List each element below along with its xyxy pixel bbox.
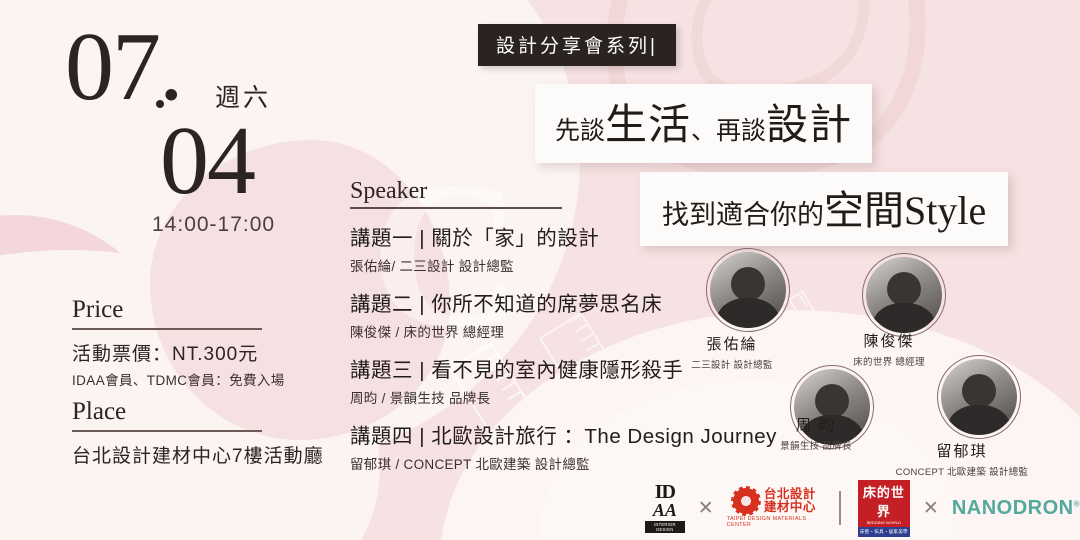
speaker-caption-3: 周 昀 景韻生技 品牌長	[741, 414, 891, 452]
date-day: 04	[160, 112, 254, 210]
headline-part-5: 設計	[766, 91, 852, 152]
headline-part-1: 先談	[555, 111, 605, 147]
avatar	[710, 252, 786, 328]
tdmc-logo-row: 台北設計 建材中心	[733, 488, 816, 514]
headline-comma: 、	[691, 111, 716, 147]
speaker-name: 周 昀	[741, 414, 891, 435]
price-heading: Price	[72, 296, 285, 324]
speaker-topic-4: 講題四 | 北歐設計旅行 ：The Design Journey 留郁琪 / C…	[350, 419, 760, 473]
x-separator-icon: ✕	[698, 497, 714, 520]
date-weekday: 週六	[215, 78, 271, 114]
place-heading: Place	[72, 398, 324, 426]
speaker-role: 二三設計 設計總監	[657, 357, 807, 371]
speaker-caption-1: 張佑綸 二三設計 設計總監	[657, 333, 807, 371]
nanodron-logo: NANODRON®	[952, 497, 1080, 520]
speaker-name: 留郁琪	[887, 440, 1037, 461]
nanodron-name: NANODRON	[952, 497, 1074, 519]
series-badge: 設計分享會系列|	[478, 24, 676, 66]
registered-mark-icon: ®	[1074, 499, 1080, 508]
price-amount: 活動票價：NT.300元	[72, 339, 285, 366]
price-section: Price 活動票價：NT.300元 IDAA會員、TDMC會員：免費入場	[72, 296, 285, 389]
speaker-portrait-2	[862, 253, 946, 337]
price-member-note: IDAA會員、TDMC會員：免費入場	[72, 369, 285, 389]
speaker-divider	[350, 207, 562, 209]
place-venue: 台北設計建材中心7樓活動廳	[72, 441, 324, 468]
speaker-portrait-4	[937, 355, 1021, 439]
left-info-column: 07. 04 週六 14:00-17:00 Price 活動票價：NT.300元…	[0, 0, 340, 540]
tdmc-cn-line2: 建材中心	[764, 501, 816, 514]
gear-icon	[733, 488, 759, 514]
avatar	[941, 359, 1017, 435]
speaker-role: CONCEPT 北歐建築 設計總監	[887, 464, 1037, 478]
speaker-name: 陳俊傑	[814, 330, 964, 351]
bed-world-cn: 床的世界	[858, 480, 910, 520]
tdmc-en-caption: TAIPEI DESIGN MATERIALS CENTER	[727, 516, 822, 528]
bed-world-tagline: 床墊・傢具・居家美學	[858, 527, 910, 537]
speaker-name: 張佑綸	[657, 333, 807, 354]
tdmc-logo-text: 台北設計 建材中心	[764, 488, 816, 514]
topic-presenter: 留郁琪 / CONCEPT 北歐建築 設計總監	[350, 453, 760, 473]
place-section: Place 台北設計建材中心7樓活動廳	[72, 398, 324, 468]
topic-title: 講題二 | 你所不知道的席夢思名床	[350, 287, 760, 317]
avatar	[866, 257, 942, 333]
idaa-logo-line2: AA	[645, 502, 685, 519]
date-block: 07. 04 週六 14:00-17:00	[0, 0, 340, 250]
subhead-part-1: 找到適合你的	[662, 193, 824, 232]
speaker-role: 景韻生技 品牌長	[741, 438, 891, 452]
headline-banner: 先談 生活 、 再談 設計	[535, 84, 872, 163]
sponsor-logo-bar: ID AA INTERIOR DESIGN ✕ 台北設計 建材中心 TAIPEI…	[645, 482, 1080, 534]
headline-part-4: 再談	[716, 111, 766, 147]
speaker-portrait-1	[706, 248, 790, 332]
subhead-part-2: 空間Style	[824, 178, 986, 236]
idaa-logo-caption: INTERIOR DESIGN	[645, 521, 685, 533]
speaker-caption-4: 留郁琪 CONCEPT 北歐建築 設計總監	[887, 440, 1037, 478]
x-separator-icon: ✕	[923, 497, 939, 520]
event-time: 14:00-17:00	[152, 213, 275, 237]
subhead-banner: 找到適合你的 空間Style	[640, 172, 1008, 246]
topic-presenter: 張佑綸/ 二三設計 設計總監	[350, 255, 760, 275]
poster-root: C 07. 04 週六 14:00-17:00 Price 活動票價：NT.30…	[0, 0, 1080, 540]
idaa-logo: ID AA INTERIOR DESIGN	[645, 483, 685, 533]
bed-world-logo: 床的世界 BEDDING WORLD 床墊・傢具・居家美學	[858, 480, 910, 537]
topic-title: 講題四 | 北歐設計旅行 ：The Design Journey	[350, 419, 760, 449]
logo-divider	[839, 491, 841, 525]
headline-part-2: 生活	[605, 91, 691, 152]
speaker-caption-2: 陳俊傑 床的世界 總經理	[814, 330, 964, 368]
bed-world-en: BEDDING WORLD	[858, 520, 910, 527]
price-divider	[72, 328, 262, 330]
date-month: 07.	[65, 18, 182, 116]
topic-presenter: 周昀 / 景韻生技 品牌長	[350, 387, 760, 407]
tdmc-logo: 台北設計 建材中心 TAIPEI DESIGN MATERIALS CENTER	[727, 488, 822, 528]
place-divider	[72, 430, 262, 432]
